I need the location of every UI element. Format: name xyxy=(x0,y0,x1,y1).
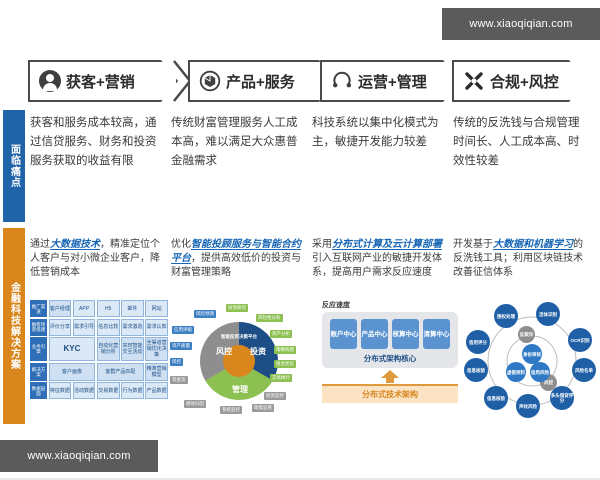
matrix-cell: 需求引导 xyxy=(73,319,96,336)
network-node-inner: 虚假资料 xyxy=(506,362,526,382)
donut-tag: 风控 xyxy=(170,358,183,366)
content-columns: 获客和服务成本较高，通过信贷服务、财务和投资服务获取的收益有限 传统财富管理服务… xyxy=(30,106,596,171)
solution-text-3: 采用分布式计算及云计算部署引入互联网产业的敏捷开发体系，提高用户需求反应速度 xyxy=(312,232,453,280)
architecture-center: 产品中心 xyxy=(361,319,388,349)
matrix-cell: 实时智能交互活动 xyxy=(121,337,144,361)
donut-tag: 风险预测 xyxy=(194,310,216,318)
matrix-cell: 产品数据 xyxy=(145,382,168,399)
donut-segment-label-risk: 风控 xyxy=(216,346,232,357)
matrix-cell: 自动化营销分析 xyxy=(97,337,120,361)
matrix-row-label: 解决方案 xyxy=(30,363,47,381)
package-icon xyxy=(199,70,221,92)
pain-point-2: 传统财富管理服务人工成本高，难以满足大众惠普金融需求 xyxy=(171,106,312,171)
figure-investment-donut: 智能投资决策平台 风控 投资 管理 信用评级 风险预测 资产质量 风控 资金流 … xyxy=(178,300,314,422)
pain-point-4: 传统的反洗钱与合规管理时间长、人工成本高、时效性较差 xyxy=(453,106,594,171)
stage-label-1: 获客+营销 xyxy=(66,71,135,92)
matrix-row-label: 业务引擎 xyxy=(30,337,47,361)
stage-label-2: 产品+服务 xyxy=(226,71,295,92)
solution-text-2: 优化智能投顾服务与智能合约平台，提供高效低价的投资与财富管理策略 xyxy=(171,232,312,280)
stage-chevron-1[interactable]: 获客+营销 xyxy=(28,60,178,102)
matrix-cell: 行为数据 xyxy=(121,382,144,399)
donut-tag: 资金流 xyxy=(170,376,188,384)
donut-segment-label-invest: 投资 xyxy=(250,346,266,357)
donut-tag: 信用评级 xyxy=(172,326,194,334)
solution-4-pre: 开发基于 xyxy=(453,239,493,250)
donut-tag: 资产质量 xyxy=(170,342,192,350)
matrix-cell: 活动数据 xyxy=(73,382,96,399)
architecture-up-arrow-icon xyxy=(322,370,458,383)
network-node: 多头借贷评分 xyxy=(550,386,574,410)
network-node: 风险名单 xyxy=(572,358,596,382)
matrix-cell: 邮件 xyxy=(121,300,144,317)
matrix-grid: 推广渠道 客户经理 APP H5 邮件 网站 触客场景搭建 评价分享 需求引导 … xyxy=(30,300,168,399)
matrix-cell: 全渠道营销优化决策 xyxy=(145,337,168,361)
matrix-cell: 精准营销模型 xyxy=(145,363,168,381)
architecture-center: 清算中心 xyxy=(423,319,450,349)
infographic-root: www.xiaoqiqian.com www.xiaoqiqian.com 获客… xyxy=(0,0,600,480)
matrix-cell: H5 xyxy=(97,300,120,317)
matrix-row-label: 推广渠道 xyxy=(30,300,47,317)
matrix-cell: 交易数据 xyxy=(97,382,120,399)
stage-header-band: 获客+营销 产品+服务 运营+管理 合规+风控 xyxy=(0,56,600,106)
pain-point-row: 获客和服务成本较高，通过信贷服务、财务和投资服务获取的收益有限 传统财富管理服务… xyxy=(30,106,596,171)
matrix-cell: 需求激造 xyxy=(121,319,144,336)
solution-1-highlight: 大数据技术 xyxy=(50,239,100,250)
network-node-inner: 信用风险 xyxy=(530,362,550,382)
watermark-top: www.xiaoqiqian.com xyxy=(442,8,600,40)
matrix-cell: 客户画像 xyxy=(49,363,96,381)
user-icon xyxy=(39,70,61,92)
network-node-inner: 身份审核 xyxy=(522,344,542,364)
network-node: 信息核验 xyxy=(464,358,488,382)
matrix-cell-kyc: KYC xyxy=(49,337,96,361)
matrix-cell: 需求认知 xyxy=(145,319,168,336)
solution-3-pre: 采用 xyxy=(312,239,332,250)
donut-segment-label-manage: 管理 xyxy=(232,384,248,395)
architecture-center: 核算中心 xyxy=(392,319,419,349)
stage-chevron-3[interactable]: 运营+管理 xyxy=(320,60,460,102)
matrix-cell: 特征数据 xyxy=(49,382,72,399)
donut-tag: 组合优化 xyxy=(274,360,296,368)
architecture-top-text: 反应速度 xyxy=(322,300,458,310)
donut-tag: 政策监管 xyxy=(252,404,274,412)
solution-4-highlight: 大数据和机器学习 xyxy=(493,239,573,250)
donut-tag: 投资监控 xyxy=(264,392,286,400)
donut-center-label: 智能投资决策平台 xyxy=(204,334,274,340)
stage-chevron-2[interactable]: 产品+服务 xyxy=(188,60,336,102)
sidebar-tab-solutions[interactable]: 金融科技解决方案 xyxy=(3,228,25,424)
sidebar-tab-pain-points[interactable]: 面临痛点 xyxy=(3,110,25,222)
matrix-cell: 网站 xyxy=(145,300,168,317)
network-node: 授权处理 xyxy=(494,304,518,328)
architecture-core-box: 账户中心 产品中心 核算中心 清算中心 分布式架构核心 xyxy=(322,312,458,368)
network-node: 声纹风险 xyxy=(516,394,540,418)
matrix-cell: 信息比较 xyxy=(97,319,120,336)
matrix-cell: 客群产品匹配 xyxy=(97,363,144,381)
network-node: 信用评分 xyxy=(466,330,490,354)
solution-2-post: ，提供高效低价的投资与财富管理策略 xyxy=(171,253,301,278)
donut-tag: 投资研究 xyxy=(226,304,248,312)
network-diagram: 授权处理 活体识别 OCR识别 风险名单 多头借贷评分 声纹风险 信息核验 信息… xyxy=(462,300,600,422)
architecture-center: 账户中心 xyxy=(330,319,357,349)
stage-chevron-4[interactable]: 合规+风控 xyxy=(452,60,586,102)
watermark-bottom: www.xiaoqiqian.com xyxy=(0,440,158,472)
figure-risk-network: 授权处理 活体识别 OCR识别 风险名单 多头借贷评分 声纹风险 信息核验 信息… xyxy=(462,300,600,422)
donut-tag: 系统监控 xyxy=(220,406,242,414)
shield-icon xyxy=(463,70,485,92)
donut-tag: 风险性分析 xyxy=(256,314,283,322)
network-node: 活体识别 xyxy=(536,302,560,326)
figure-distributed-architecture: 反应速度 账户中心 产品中心 核算中心 清算中心 分布式架构核心 分布式技术架构 xyxy=(322,300,458,422)
matrix-cell: 评价分享 xyxy=(49,319,72,336)
architecture-core-label: 分布式架构核心 xyxy=(327,353,453,364)
solution-text-4: 开发基于大数据和机器学习的反洗钱工具；利用区块链技术改善征信体系 xyxy=(453,232,594,280)
solution-1-pre: 通过 xyxy=(30,239,50,250)
stage-label-3: 运营+管理 xyxy=(358,71,427,92)
stage-label-4: 合规+风控 xyxy=(490,71,559,92)
solution-text-1: 通过大数据技术，精准定位个人客户与对小微企业客户，降低营销成本 xyxy=(30,232,171,280)
figure-row: 推广渠道 客户经理 APP H5 邮件 网站 触客场景搭建 评价分享 需求引导 … xyxy=(30,300,600,425)
donut-tag: 策略构建 xyxy=(274,346,296,354)
matrix-row-label: 数据层面 xyxy=(30,382,47,399)
matrix-cell: 客户经理 xyxy=(49,300,72,317)
pain-point-1: 获客和服务成本较高，通过信贷服务、财务和投资服务获取的收益有限 xyxy=(30,106,171,171)
network-node-mid: 反欺诈 xyxy=(518,326,535,343)
network-node: 信息核验 xyxy=(484,386,508,410)
network-node: OCR识别 xyxy=(568,328,592,352)
donut-tag: 交易执行 xyxy=(270,374,292,382)
matrix-cell: APP xyxy=(73,300,96,317)
figure-marketing-matrix: 推广渠道 客户经理 APP H5 邮件 网站 触客场景搭建 评价分享 需求引导 … xyxy=(30,300,170,422)
architecture-base-label: 分布式技术架构 xyxy=(322,384,458,403)
donut-tag: 绩效归因 xyxy=(184,400,206,408)
solution-3-post: 引入互联网产业的敏捷开发体系，提高用户需求反应速度 xyxy=(312,253,442,278)
solution-2-pre: 优化 xyxy=(171,239,191,250)
matrix-row-label: 触客场景搭建 xyxy=(30,319,47,336)
pain-point-3: 科技系统以集中化模式为主，敏捷开发能力较差 xyxy=(312,106,453,171)
solution-text-row: 通过大数据技术，精准定位个人客户与对小微企业客户，降低营销成本 优化智能投顾服务… xyxy=(30,232,596,280)
refresh-icon xyxy=(331,70,353,92)
solution-3-highlight: 分布式计算及云计算部署 xyxy=(332,239,442,250)
